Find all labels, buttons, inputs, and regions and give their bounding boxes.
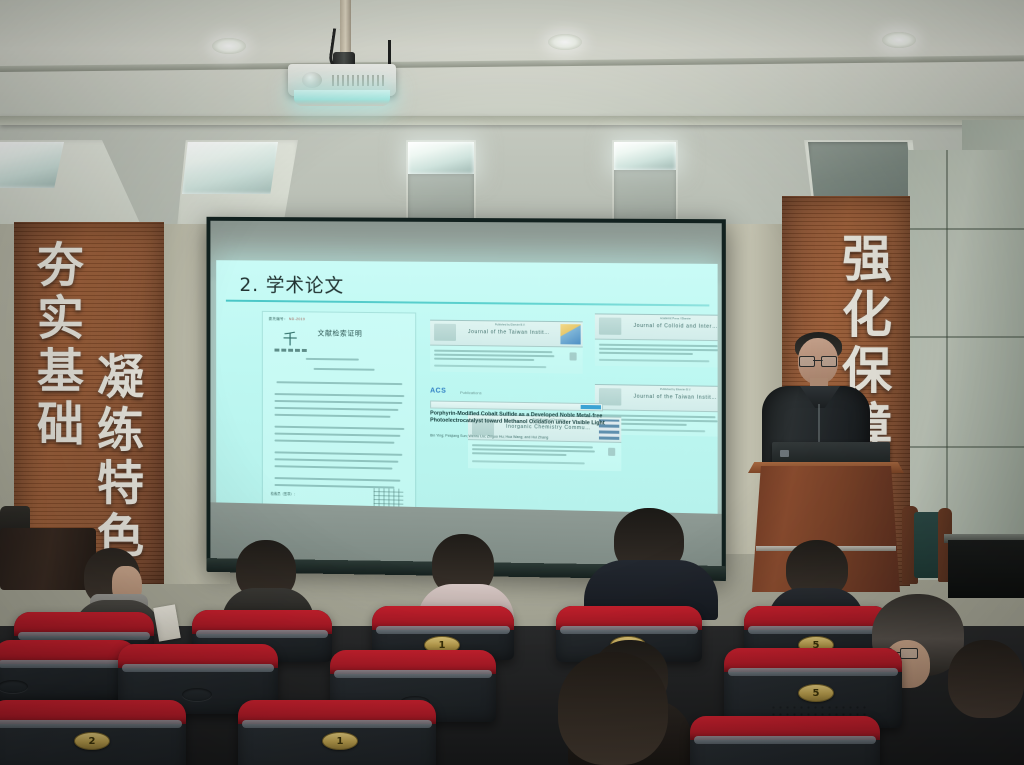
seat-gloss — [694, 736, 876, 744]
doc-body-line — [276, 381, 402, 385]
seat-gloss — [748, 626, 886, 634]
pdf-icon[interactable] — [570, 352, 577, 360]
doc-body-line — [275, 393, 405, 397]
seat-gloss — [18, 632, 150, 640]
downlight-icon — [882, 32, 916, 48]
search-input[interactable] — [430, 400, 603, 411]
journal-authors — [472, 460, 585, 464]
glasses-icon — [799, 356, 837, 365]
certificate-document: 委托编号： ND-2019 千 文献检索证明 — [263, 312, 415, 513]
journal-authors — [434, 365, 546, 368]
abstract-line — [599, 344, 718, 347]
acs-logo: ACS — [430, 388, 446, 395]
banner-text-left-2: 凝练特色 — [92, 352, 139, 564]
journal-authors — [599, 359, 709, 362]
certificate-title: 文献检索证明 — [318, 328, 363, 338]
journal-header: Published by Elsevier B.V. Journal of th… — [595, 384, 718, 413]
abstract-line — [434, 354, 554, 357]
downlight-icon — [548, 34, 582, 50]
article-authors: Bin Ying; Peiqiang Sun; Wenru Liu; Zhigu… — [430, 433, 601, 440]
seat-number-plate: 1 — [322, 732, 358, 750]
journal-header: Published by Elsevier B.V. Journal of th… — [430, 320, 583, 348]
stone-seam — [908, 336, 1024, 338]
doc-body-line — [275, 400, 403, 404]
seat-number-plate: 5 — [798, 684, 834, 702]
journal-entry: Published by Elsevier B.V. Journal of th… — [430, 320, 583, 374]
journal-header: Academic Press / Elsevier Journal of Col… — [595, 313, 718, 341]
journal-name: Journal of the Taiwan Institute of Chemi… — [468, 329, 552, 336]
panel-light — [614, 142, 676, 170]
abstract-line — [434, 358, 534, 361]
projector-lens-icon — [302, 72, 322, 88]
abstract-line — [472, 452, 567, 456]
doc-body-line — [275, 414, 391, 418]
panel-light — [182, 142, 278, 194]
laptop-logo-icon — [780, 450, 789, 457]
seat-gloss — [728, 668, 898, 676]
panel-light — [0, 142, 64, 188]
doc-body-line — [275, 451, 403, 456]
journal-logo-icon — [599, 317, 621, 334]
certificate-header: 委托编号： ND-2019 — [269, 317, 305, 322]
seat-gloss — [334, 670, 492, 678]
seat-number-plate: 2 — [74, 732, 110, 750]
certificate-header-label: 委托编号： — [269, 317, 288, 321]
banner-text-left-1: 夯实基础 — [32, 240, 79, 452]
projector-vents — [332, 75, 384, 86]
doc-body-line — [275, 433, 401, 437]
ceiling-soffit-edge — [0, 116, 1024, 125]
stage-table — [948, 540, 1024, 598]
screen-blank-area-top — [210, 221, 721, 266]
conference-room-scene: 夯实基础 凝练特色 强化保障 2. 学术论文 委托编号： ND-2019 千 文… — [0, 0, 1024, 765]
doc-body-line — [275, 440, 395, 444]
institution-logo-underline — [275, 349, 308, 352]
journal-publisher: Academic Press / Elsevier — [634, 316, 718, 320]
journal-cover-thumbnail — [560, 324, 580, 344]
left-stage-desk — [0, 528, 96, 590]
seat-gloss — [0, 660, 132, 668]
doc-body-line — [275, 477, 401, 482]
stone-seam — [908, 228, 1024, 230]
panel-light — [408, 142, 474, 174]
doc-field-line — [314, 368, 375, 371]
seat-gloss — [560, 626, 698, 634]
journal-entry: Academic Press / Elsevier Journal of Col… — [595, 313, 718, 368]
audience-head — [948, 640, 1024, 718]
acs-article-block: ACS Publications Porphyrin-Modified Coba… — [422, 387, 613, 452]
seat-gloss — [122, 664, 274, 672]
stone-seam — [908, 446, 1024, 448]
journal-logo-icon — [434, 324, 456, 341]
seat[interactable] — [0, 640, 136, 700]
journal-publisher: Published by Elsevier B.V. — [468, 323, 552, 327]
journal-name: Journal of Colloid and Interface Science — [634, 323, 718, 330]
presentation-slide: 2. 学术论文 委托编号： ND-2019 千 文献检索证明 — [216, 260, 717, 516]
slide-title-rule — [226, 300, 709, 307]
glasses-lens-right — [821, 356, 837, 367]
acs-logo-subtitle: Publications — [460, 390, 482, 395]
seat-dimple — [182, 688, 212, 701]
seat-gloss — [242, 720, 432, 728]
seat[interactable]: 2 — [0, 700, 186, 765]
seat-gloss — [376, 626, 510, 634]
doc-field-line — [306, 358, 359, 361]
institution-logo-icon: 千 — [280, 328, 300, 350]
seat[interactable] — [690, 716, 880, 765]
abstract-line — [434, 350, 552, 353]
downlight-icon — [212, 38, 246, 54]
slide-title: 2. 学术论文 — [239, 270, 344, 298]
seat[interactable]: 1 — [238, 700, 436, 765]
doc-body-line — [275, 458, 399, 463]
certificate-header-value: ND-2019 — [289, 317, 305, 321]
search-button[interactable] — [581, 405, 601, 409]
abstract-line — [599, 352, 693, 355]
abstract-line — [599, 348, 718, 351]
projector-light-glow — [294, 90, 390, 106]
journal-publisher: Published by Elsevier B.V. — [634, 387, 718, 391]
glasses-lens-right — [900, 648, 918, 659]
doc-body-line — [275, 465, 393, 470]
seat-gloss — [0, 720, 182, 728]
article-title[interactable]: Porphyrin-Modified Cobalt Sulfide as a D… — [430, 410, 607, 427]
certificate-signature-label: 检索员（签章）： — [271, 491, 297, 497]
audience-head — [558, 652, 668, 765]
seat-dimple — [0, 680, 28, 693]
doc-body-line — [275, 407, 399, 411]
journal-name: Journal of the Taiwan Institute of Chemi… — [634, 394, 718, 401]
glasses-lens-left — [799, 356, 815, 367]
doc-body-line — [275, 426, 405, 430]
seat-gloss — [196, 630, 328, 638]
